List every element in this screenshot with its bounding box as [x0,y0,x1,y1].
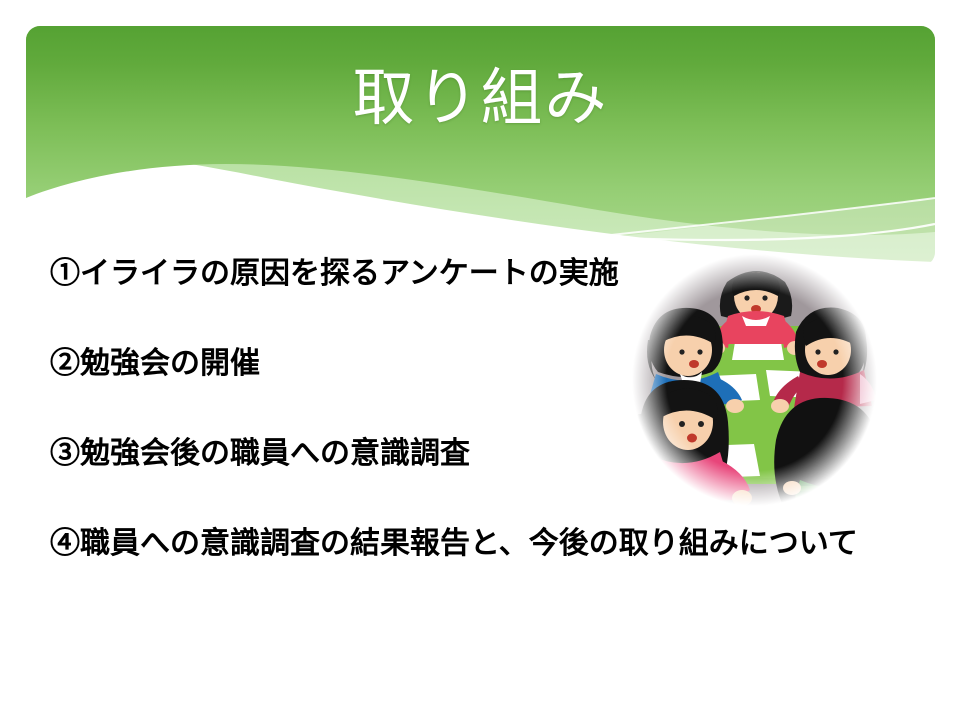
person-bottom-right [774,398,877,506]
list-item: ④職員への意識調査の結果報告と、今後の取り組みについて [50,522,910,566]
page-title: 取り組み [26,62,935,136]
purple-object [634,478,660,506]
meeting-discussion-clipart [632,254,877,506]
presentation-slide: 取り組み ①イライラの原因を探るアンケートの実施 ②勉強会の開催 ③勉強会後の職… [0,0,960,720]
swoosh-line-upper [176,194,935,240]
